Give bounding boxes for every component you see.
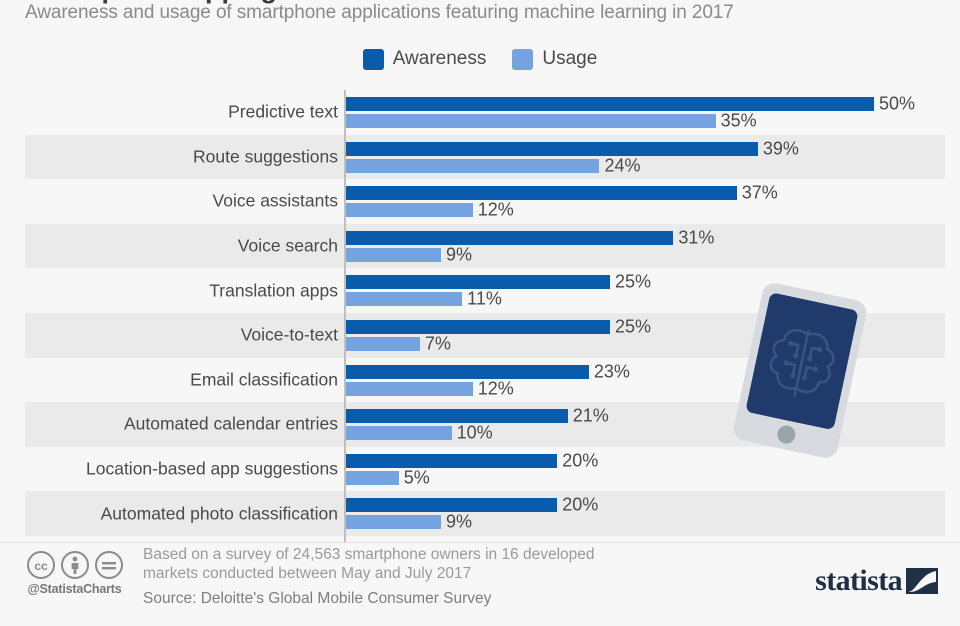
bar-usage[interactable]: 35%	[346, 114, 716, 128]
bar-group: 31%9%	[346, 224, 946, 269]
cc-by-icon	[60, 550, 90, 580]
footer-text-block: Based on a survey of 24,563 smartphone o…	[143, 545, 743, 608]
chart-row: Route suggestions39%24%	[25, 135, 945, 180]
chart-footer: cc @StatistaCharts Based on a survey of …	[0, 542, 960, 626]
survey-note: Based on a survey of 24,563 smartphone o…	[143, 545, 743, 583]
bar-value-label: 39%	[763, 138, 799, 159]
bar-usage[interactable]: 5%	[346, 471, 399, 485]
bar-awareness[interactable]: 31%	[346, 231, 673, 245]
bar-usage[interactable]: 12%	[346, 382, 473, 396]
legend-item-awareness[interactable]: Awareness	[363, 48, 487, 70]
bar-usage[interactable]: 11%	[346, 292, 462, 306]
chart-row: Predictive text50%35%	[25, 90, 945, 135]
chart-subtitle: Awareness and usage of smartphone applic…	[25, 2, 935, 24]
bar-value-label: 31%	[678, 227, 714, 248]
category-label: Voice assistants	[213, 191, 338, 212]
bar-group: 20%9%	[346, 491, 946, 536]
bar-awareness[interactable]: 39%	[346, 142, 758, 156]
bar-value-label: 9%	[446, 244, 472, 265]
bar-group: 20%5%	[346, 447, 946, 492]
square-swatch-icon	[512, 49, 533, 70]
square-swatch-icon	[363, 49, 384, 70]
statista-chart: Smartphone apps get smarter Awareness an…	[0, 0, 960, 626]
category-label: Automated photo classification	[101, 503, 338, 524]
bar-value-label: 9%	[446, 512, 472, 533]
bar-awareness[interactable]: 21%	[346, 409, 568, 423]
bar-value-label: 24%	[604, 155, 640, 176]
source-note: Source: Deloitte's Global Mobile Consume…	[143, 590, 743, 608]
category-label: Email classification	[190, 369, 338, 390]
bar-usage[interactable]: 24%	[346, 159, 599, 173]
bar-value-label: 12%	[478, 200, 514, 221]
category-label: Translation apps	[209, 280, 338, 301]
bar-awareness[interactable]: 20%	[346, 498, 557, 512]
statista-logo: statista	[815, 564, 938, 598]
bar-value-label: 12%	[478, 378, 514, 399]
chart-row: Voice search31%9%	[25, 224, 945, 269]
bar-awareness[interactable]: 50%	[346, 97, 874, 111]
bar-group: 50%35%	[346, 90, 946, 135]
bar-value-label: 25%	[615, 317, 651, 338]
bar-value-label: 25%	[615, 272, 651, 293]
y-axis-line	[344, 90, 346, 542]
bar-group: 21%10%	[346, 402, 946, 447]
bar-value-label: 7%	[425, 334, 451, 355]
bar-awareness[interactable]: 25%	[346, 275, 610, 289]
bar-usage[interactable]: 7%	[346, 337, 420, 351]
bar-value-label: 23%	[594, 361, 630, 382]
legend-label: Usage	[542, 48, 597, 70]
bar-value-label: 11%	[467, 289, 502, 310]
category-label: Predictive text	[228, 102, 338, 123]
bar-value-label: 20%	[562, 450, 598, 471]
bar-value-label: 5%	[404, 467, 430, 488]
svg-text:cc: cc	[34, 559, 48, 573]
cc-icon: cc	[26, 550, 56, 580]
legend-label: Awareness	[393, 48, 487, 70]
chart-row: Voice assistants37%12%	[25, 179, 945, 224]
cc-nd-icon	[94, 550, 124, 580]
statista-swoosh-icon	[906, 568, 938, 594]
category-label: Automated calendar entries	[124, 414, 338, 435]
bar-awareness[interactable]: 20%	[346, 454, 557, 468]
bar-value-label: 20%	[562, 495, 598, 516]
bar-usage[interactable]: 10%	[346, 426, 452, 440]
category-label: Location-based app suggestions	[86, 459, 338, 480]
bar-value-label: 10%	[457, 423, 493, 444]
bar-group: 37%12%	[346, 179, 946, 224]
bar-usage[interactable]: 9%	[346, 248, 441, 262]
category-label: Voice-to-text	[241, 325, 338, 346]
bar-awareness[interactable]: 37%	[346, 186, 737, 200]
statista-handle: @StatistaCharts	[22, 582, 127, 596]
bar-awareness[interactable]: 23%	[346, 365, 589, 379]
chart-row: Automated photo classification20%9%	[25, 491, 945, 536]
bar-usage[interactable]: 9%	[346, 515, 441, 529]
bar-value-label: 21%	[573, 406, 609, 427]
footer-divider	[0, 542, 960, 543]
bar-value-label: 37%	[742, 183, 778, 204]
cc-icon-group: cc	[22, 550, 127, 580]
bar-value-label: 50%	[879, 94, 915, 115]
bar-value-label: 35%	[721, 111, 757, 132]
license-block: cc @StatistaCharts	[22, 550, 127, 596]
legend-item-usage[interactable]: Usage	[512, 48, 597, 70]
statista-wordmark: statista	[815, 564, 902, 598]
bar-group: 39%24%	[346, 135, 946, 180]
bar-usage[interactable]: 12%	[346, 203, 473, 217]
category-label: Route suggestions	[193, 146, 338, 167]
chart-legend: AwarenessUsage	[0, 48, 960, 70]
bar-awareness[interactable]: 25%	[346, 320, 610, 334]
category-label: Voice search	[238, 236, 338, 257]
